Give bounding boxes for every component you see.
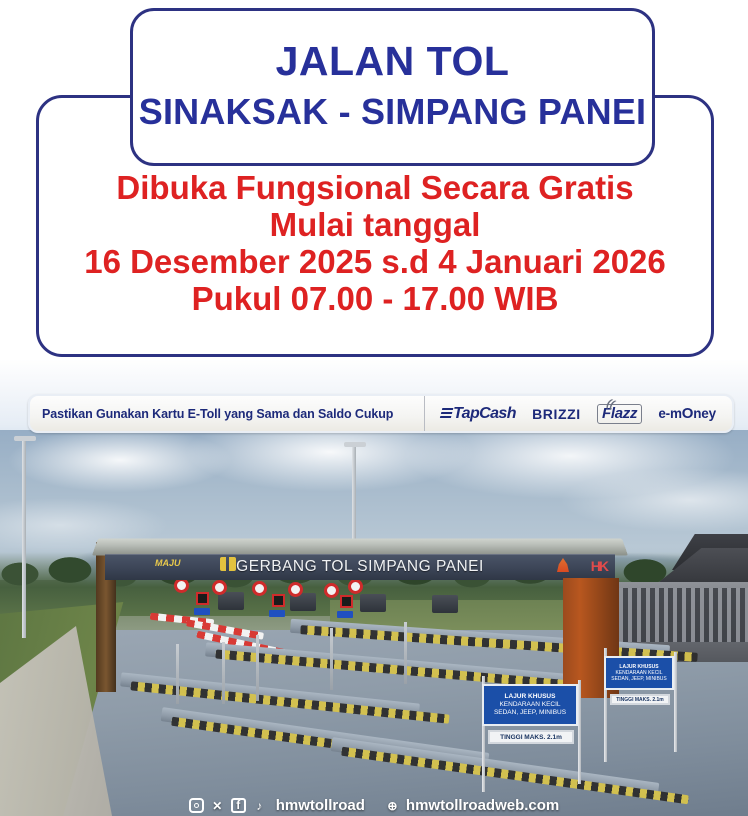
light-pole-1-head [14, 436, 36, 441]
title-box: JALAN TOL SINAKSAK - SIMPANG PANEI [130, 8, 655, 166]
title-line-1: JALAN TOL [276, 40, 510, 83]
sign-leg-4 [674, 652, 677, 752]
lane-restriction-sign-primary: LAJUR KHUSUS KENDARAAN KECIL SEDAN, JEEP… [482, 684, 578, 726]
globe-icon: ⊕ [385, 798, 400, 813]
gantry-roof [92, 539, 628, 556]
lane-sign-secondary-line3: SEDAN, JEEP, MINIBUS [606, 676, 672, 682]
lane-sign-primary-line1: LAJUR KHUSUS [484, 693, 576, 701]
tapcash-logo-label: TapCash [453, 405, 516, 423]
island-post-4 [330, 628, 333, 690]
island-post-3 [256, 635, 259, 701]
announcement-line-3: 16 Desember 2025 s.d 4 Januari 2026 [40, 244, 710, 281]
announcement-line-2: Mulai tanggal [40, 207, 710, 244]
emoney-suffix: ney [693, 406, 716, 421]
emoney-o-glyph: O [682, 405, 693, 422]
gantry-sign-text: GERBANG TOL SIMPANG PANEI [236, 558, 484, 576]
flazz-logo: ((Flazz [597, 404, 642, 424]
x-twitter-icon[interactable]: ✕ [210, 798, 225, 813]
announcement-block: Dibuka Fungsional Secara Gratis Mulai ta… [40, 170, 710, 318]
title-line-2: SINAKSAK - SIMPANG PANEI [139, 89, 647, 134]
etoll-card-strip: Pastikan Gunakan Kartu E-Toll yang Sama … [28, 394, 734, 433]
announcement-line-1: Dibuka Fungsional Secara Gratis [40, 170, 710, 207]
toll-road-announcement-poster: JALAN TOL SINAKSAK - SIMPANG PANEI Dibuk… [0, 0, 748, 816]
tiktok-icon[interactable]: ♪ [252, 798, 267, 813]
emoney-prefix: e-m [658, 406, 681, 421]
light-pole-2-head [344, 442, 366, 447]
gantry-sign-band: GERBANG TOL SIMPANG PANEI [105, 554, 615, 580]
height-limit-sign-primary: TINGGI MAKS. 2.1m [488, 730, 574, 744]
height-limit-sign-secondary: TINGGI MAKS. 2.1m [610, 694, 670, 705]
social-footer: ✕ f ♪ hmwtollroad ⊕ hmwtollroadweb.com [0, 797, 748, 814]
tapcash-logo: TapCash [441, 405, 516, 423]
lane-restriction-sign-secondary: LAJUR KHUSUS KENDARAAN KECIL SEDAN, JEEP… [604, 656, 674, 690]
instagram-icon[interactable] [189, 798, 204, 813]
emoney-logo: e-mOney [658, 405, 716, 422]
island-post-2 [222, 642, 225, 704]
toll-gate-photo: GERBANG TOL SIMPANG PANEI MAJU HK [0, 430, 748, 816]
tapcash-bars-icon [440, 408, 454, 419]
announcement-line-4: Pukul 07.00 - 17.00 WIB [40, 281, 710, 318]
gantry-emblem-icon [220, 557, 236, 571]
light-pole-2 [352, 444, 356, 544]
toll-gate-gantry: GERBANG TOL SIMPANG PANEI MAJU HK [95, 538, 625, 600]
etoll-note: Pastikan Gunakan Kartu E-Toll yang Sama … [30, 396, 425, 431]
light-pole-1 [22, 438, 26, 638]
brizzi-logo: BRIZZI [532, 406, 581, 422]
island-post-1 [176, 644, 179, 704]
website-url[interactable]: hmwtollroadweb.com [406, 797, 559, 814]
facebook-icon[interactable]: f [231, 798, 246, 813]
social-handle: hmwtollroad [276, 797, 365, 814]
lane-blue-panel-2 [269, 610, 285, 617]
island-post-5 [404, 622, 407, 684]
toll-office-facade [614, 588, 748, 642]
lane-sign-primary-line3: SEDAN, JEEP, MINIBUS [484, 709, 576, 717]
sign-leg-2 [578, 680, 581, 784]
lane-blue-panel-1 [194, 608, 210, 615]
lane-blue-panel-3 [337, 611, 353, 618]
etoll-logo-list: TapCash BRIZZI ((Flazz e-mOney [425, 396, 732, 431]
gantry-maju-logo: MAJU [155, 558, 181, 568]
lane-sign-primary-line2: KENDARAAN KECIL [484, 701, 576, 709]
gantry-hk-logo: HK [591, 558, 607, 574]
